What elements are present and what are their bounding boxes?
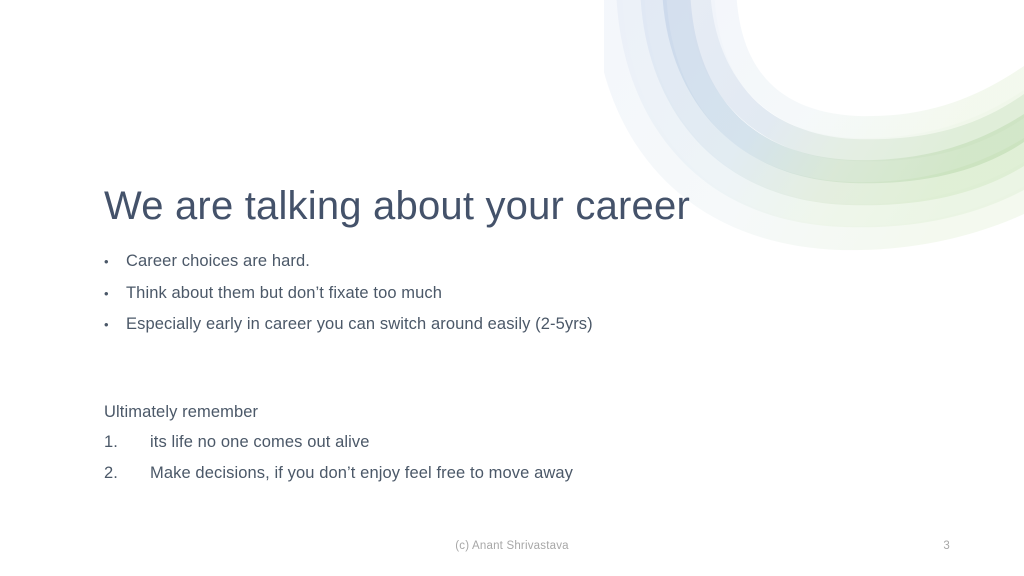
list-item: 1. its life no one comes out alive (104, 427, 864, 458)
bullet-text: Especially early in career you can switc… (126, 309, 864, 340)
footer-credit: (c) Anant Shrivastava (0, 540, 1024, 552)
list-item: • Especially early in career you can swi… (104, 309, 864, 341)
bullet-list: • Career choices are hard. • Think about… (104, 246, 864, 341)
number-marker: 2. (104, 458, 150, 489)
number-text: Make decisions, if you don’t enjoy feel … (150, 458, 864, 489)
bullet-text: Career choices are hard. (126, 246, 864, 277)
list-item: • Career choices are hard. (104, 246, 864, 278)
number-text: its life no one comes out alive (150, 427, 864, 458)
bullet-marker-icon: • (104, 247, 126, 278)
slide-canvas: We are talking about your career • Caree… (0, 0, 1024, 576)
number-marker: 1. (104, 427, 150, 458)
list-item: • Think about them but don’t fixate too … (104, 278, 864, 310)
slide-title: We are talking about your career (104, 184, 690, 229)
list-item: 2. Make decisions, if you don’t enjoy fe… (104, 458, 864, 489)
bullet-marker-icon: • (104, 310, 126, 341)
bullet-text: Think about them but don’t fixate too mu… (126, 278, 864, 309)
footer-page-number: 3 (943, 540, 950, 552)
bullet-marker-icon: • (104, 279, 126, 310)
closing-block: Ultimately remember 1. its life no one c… (104, 397, 864, 488)
closing-heading: Ultimately remember (104, 397, 864, 427)
